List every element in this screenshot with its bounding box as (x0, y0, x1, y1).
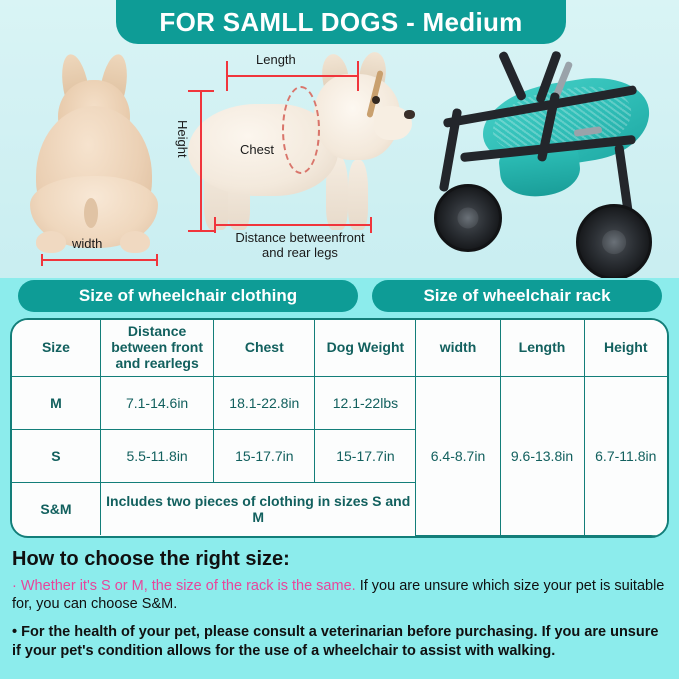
cell-distance-m: 7.1-14.6in (100, 377, 213, 430)
section-pill-clothing-label: Size of wheelchair clothing (79, 286, 297, 306)
dog-side-view-illustration: Length Height Chest Distance betweenfron… (176, 48, 426, 263)
dog-front-leg-near (348, 160, 368, 230)
distance-label-line2: and rear legs (262, 245, 338, 260)
cell-chest-m: 18.1-22.8in (214, 377, 315, 430)
cell-rack-width: 6.4-8.7in (416, 377, 500, 536)
page-title-banner: FOR SAMLL DOGS - Medium (116, 0, 566, 44)
width-measure-label: width (72, 236, 102, 251)
cell-rack-length: 9.6-13.8in (500, 377, 584, 536)
dog-paw-right (120, 231, 150, 253)
height-measure-arrow-icon (200, 90, 202, 232)
chest-measure-ellipse-icon (282, 86, 320, 174)
header-rack-length: Length (500, 320, 584, 377)
length-measure-label: Length (256, 52, 296, 67)
cell-distance-s: 5.5-11.8in (100, 430, 213, 483)
cell-weight-s: 15-17.7in (315, 430, 416, 483)
header-dog-weight: Dog Weight (315, 320, 416, 377)
wheel-hub-left (457, 207, 478, 228)
table-row: M 7.1-14.6in 18.1-22.8in 12.1-22lbs 6.4-… (12, 377, 667, 430)
dog-tail (84, 198, 98, 228)
distance-measure-arrow-icon (214, 224, 372, 226)
section-pill-rack-label: Size of wheelchair rack (423, 286, 610, 306)
how-to-choose-heading: How to choose the right size: (12, 548, 667, 571)
dog-paw-left (36, 231, 66, 253)
height-measure-label: Height (175, 120, 190, 158)
cell-size-sm: S&M (12, 483, 100, 536)
header-size: Size (12, 320, 100, 377)
chest-measure-label: Chest (240, 142, 274, 157)
page-title: FOR SAMLL DOGS - Medium (159, 7, 522, 38)
section-header-row: Size of wheelchair clothing Size of whee… (0, 278, 679, 318)
dog-rear-view-illustration: width (22, 48, 164, 253)
section-pill-rack: Size of wheelchair rack (372, 280, 662, 312)
wheel-hub-right (602, 230, 626, 254)
advice-bullet-2: • For the health of your pet, please con… (12, 623, 667, 661)
length-measure-arrow-icon (226, 75, 359, 77)
advice-bullet-1-marker: · (12, 578, 17, 594)
dog-nose (404, 110, 415, 119)
section-pill-clothing: Size of wheelchair clothing (18, 280, 358, 312)
cell-weight-m: 12.1-22lbs (315, 377, 416, 430)
width-measure-arrow-icon (41, 259, 158, 261)
wheelchair-wheel-left (434, 184, 502, 252)
header-rack-width: width (416, 320, 500, 377)
size-chart-page: FOR SAMLL DOGS - Medium width (0, 0, 679, 679)
advice-bullet-1-highlight: Whether it's S or M, the size of the rac… (21, 578, 356, 594)
size-table: Size Distance between front and rearlegs… (12, 320, 667, 536)
advice-bullet-1: · Whether it's S or M, the size of the r… (12, 577, 667, 615)
header-distance: Distance between front and rearlegs (100, 320, 213, 377)
wheelchair-hoop-left (498, 50, 527, 101)
wheelchair-wheel-right (576, 204, 652, 278)
size-table-container: Size Distance between front and rearlegs… (10, 318, 669, 538)
dog-wheelchair-illustration (424, 36, 672, 266)
table-header-row: Size Distance between front and rearlegs… (12, 320, 667, 377)
how-to-choose-section: How to choose the right size: · Whether … (0, 538, 679, 661)
hero-image-area: FOR SAMLL DOGS - Medium width (0, 0, 679, 278)
cell-combo-note: Includes two pieces of clothing in sizes… (100, 483, 416, 536)
cell-chest-s: 15-17.7in (214, 430, 315, 483)
cell-rack-height: 6.7-11.8in (584, 377, 667, 536)
header-rack-height: Height (584, 320, 667, 377)
cell-size-s: S (12, 430, 100, 483)
distance-measure-label: Distance betweenfront and rear legs (210, 230, 390, 261)
distance-label-line1: Distance betweenfront (235, 230, 364, 245)
header-chest: Chest (214, 320, 315, 377)
cell-size-m: M (12, 377, 100, 430)
dog-eye (372, 96, 380, 104)
